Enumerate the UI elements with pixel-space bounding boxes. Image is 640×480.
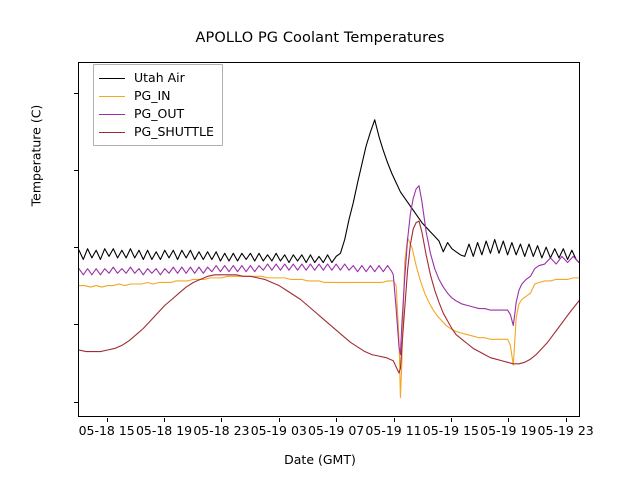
legend-item: PG_SHUTTLE [99,123,214,141]
figure: APOLLO PG Coolant Temperatures Temperatu… [0,0,640,480]
x-tick-mark [451,418,452,422]
legend-swatch-icon [99,114,125,115]
x-tick-mark [336,418,337,422]
x-tick-mark [107,418,108,422]
legend-swatch-icon [99,78,125,79]
y-axis-label: Temperature (C) [29,16,44,296]
x-tick-mark [221,418,222,422]
chart-title: APOLLO PG Coolant Temperatures [0,30,640,46]
x-tick-mark [394,418,395,422]
x-tick-mark [164,418,165,422]
legend-label: PG_SHUTTLE [134,125,214,139]
legend-item: PG_OUT [99,105,214,123]
legend-label: Utah Air [134,71,185,85]
legend-label: PG_IN [134,89,171,103]
legend-swatch-icon [99,132,125,133]
legend-item: Utah Air [99,69,214,87]
legend-item: PG_IN [99,87,214,105]
legend-swatch-icon [99,96,125,97]
legend: Utah AirPG_INPG_OUTPG_SHUTTLE [93,64,223,146]
series-line-pg-out [79,186,579,355]
x-tick-label: 05-19 23 [506,424,626,438]
x-axis-label: Date (GMT) [0,452,640,467]
x-tick-mark [566,418,567,422]
x-tick-mark [279,418,280,422]
x-tick-mark [508,418,509,422]
legend-label: PG_OUT [134,107,184,121]
